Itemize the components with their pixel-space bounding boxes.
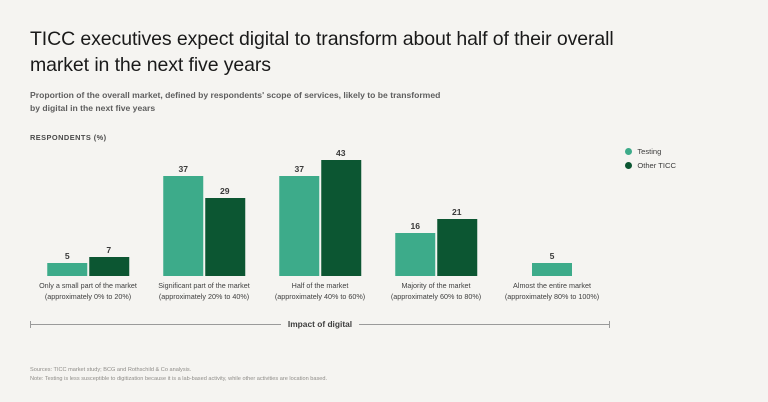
bar-other-ticc[interactable] — [321, 160, 361, 276]
bar-column: 16 — [395, 145, 435, 276]
axis-line-left — [31, 324, 281, 325]
bar-column: 5 — [47, 145, 87, 276]
category-label: Significant part of the market(approxima… — [146, 281, 262, 302]
bar-group: 57 — [30, 145, 146, 276]
bar-value-label: 5 — [47, 251, 87, 261]
bar-column: 29 — [205, 145, 245, 276]
bar-value-label: 37 — [163, 164, 203, 174]
page-title: TICC executives expect digital to transf… — [30, 26, 650, 78]
axis-line-right — [359, 324, 609, 325]
category-label-main: Majority of the market — [401, 281, 470, 290]
bar-pair: 5 — [532, 145, 572, 276]
bar-value-label: 5 — [532, 251, 572, 261]
bar-testing[interactable] — [163, 176, 203, 276]
impact-axis-label: Impact of digital — [281, 319, 359, 329]
category-label-sub: (approximately 80% to 100%) — [496, 292, 608, 303]
bar-pair: 57 — [47, 145, 129, 276]
legend-swatch-testing — [625, 148, 632, 155]
bar-column: 5 — [532, 145, 572, 276]
bar-testing[interactable] — [279, 176, 319, 276]
bar-pair: 3729 — [163, 145, 245, 276]
impact-of-digital-axis: Impact of digital — [30, 317, 610, 331]
bar-group: 3729 — [146, 145, 262, 276]
bar-testing[interactable] — [395, 233, 435, 276]
legend-item-other-ticc[interactable]: Other TICC — [625, 161, 676, 170]
bar-value-label: 7 — [89, 245, 129, 255]
bar-testing[interactable] — [532, 263, 572, 276]
bar-column: 37 — [163, 145, 203, 276]
slide-canvas: TICC executives expect digital to transf… — [0, 0, 768, 402]
category-label-sub: (approximately 20% to 40%) — [148, 292, 260, 303]
bar-column: 43 — [321, 145, 361, 276]
footnote-sources: Sources: TICC market study; BCG and Roth… — [30, 366, 730, 375]
legend-swatch-other-ticc — [625, 162, 632, 169]
bar-other-ticc[interactable] — [89, 257, 129, 276]
category-label: Half of the market(approximately 40% to … — [262, 281, 378, 302]
footnote-note: Note: Testing is less susceptible to dig… — [30, 375, 730, 384]
category-label-main: Almost the entire market — [513, 281, 591, 290]
bar-value-label: 16 — [395, 221, 435, 231]
legend-label-testing: Testing — [637, 147, 661, 156]
axis-cap-right — [609, 321, 610, 328]
plot-area: 573729374316215 — [30, 145, 610, 276]
category-label-main: Half of the market — [292, 281, 349, 290]
bar-value-label: 37 — [279, 164, 319, 174]
category-label-sub: (approximately 60% to 80%) — [380, 292, 492, 303]
category-label-main: Significant part of the market — [158, 281, 250, 290]
bar-value-label: 43 — [321, 148, 361, 158]
category-label: Almost the entire market(approximately 8… — [494, 281, 610, 302]
category-label: Majority of the market(approximately 60%… — [378, 281, 494, 302]
bar-pair: 1621 — [395, 145, 477, 276]
chart-legend: Testing Other TICC — [625, 147, 676, 170]
chart-subtitle: Proportion of the overall market, define… — [30, 89, 450, 115]
bar-other-ticc[interactable] — [205, 198, 245, 276]
bar-group: 1621 — [378, 145, 494, 276]
category-label: Only a small part of the market(approxim… — [30, 281, 146, 302]
legend-item-testing[interactable]: Testing — [625, 147, 676, 156]
y-axis-unit-label: RESPONDENTS (%) — [30, 133, 107, 142]
bar-pair: 3743 — [279, 145, 361, 276]
category-label-row: Only a small part of the market(approxim… — [30, 281, 610, 302]
bar-group: 3743 — [262, 145, 378, 276]
bar-column: 7 — [89, 145, 129, 276]
bar-column: 37 — [279, 145, 319, 276]
legend-label-other-ticc: Other TICC — [637, 161, 676, 170]
category-label-main: Only a small part of the market — [39, 281, 137, 290]
bar-other-ticc[interactable] — [437, 219, 477, 276]
bar-testing[interactable] — [47, 263, 87, 276]
footnotes: Sources: TICC market study; BCG and Roth… — [30, 366, 730, 384]
bar-group-row: 573729374316215 — [30, 145, 610, 276]
bar-value-label: 29 — [205, 186, 245, 196]
category-label-sub: (approximately 0% to 20%) — [32, 292, 144, 303]
bar-column: 21 — [437, 145, 477, 276]
category-label-sub: (approximately 40% to 60%) — [264, 292, 376, 303]
bar-group: 5 — [494, 145, 610, 276]
bar-value-label: 21 — [437, 207, 477, 217]
